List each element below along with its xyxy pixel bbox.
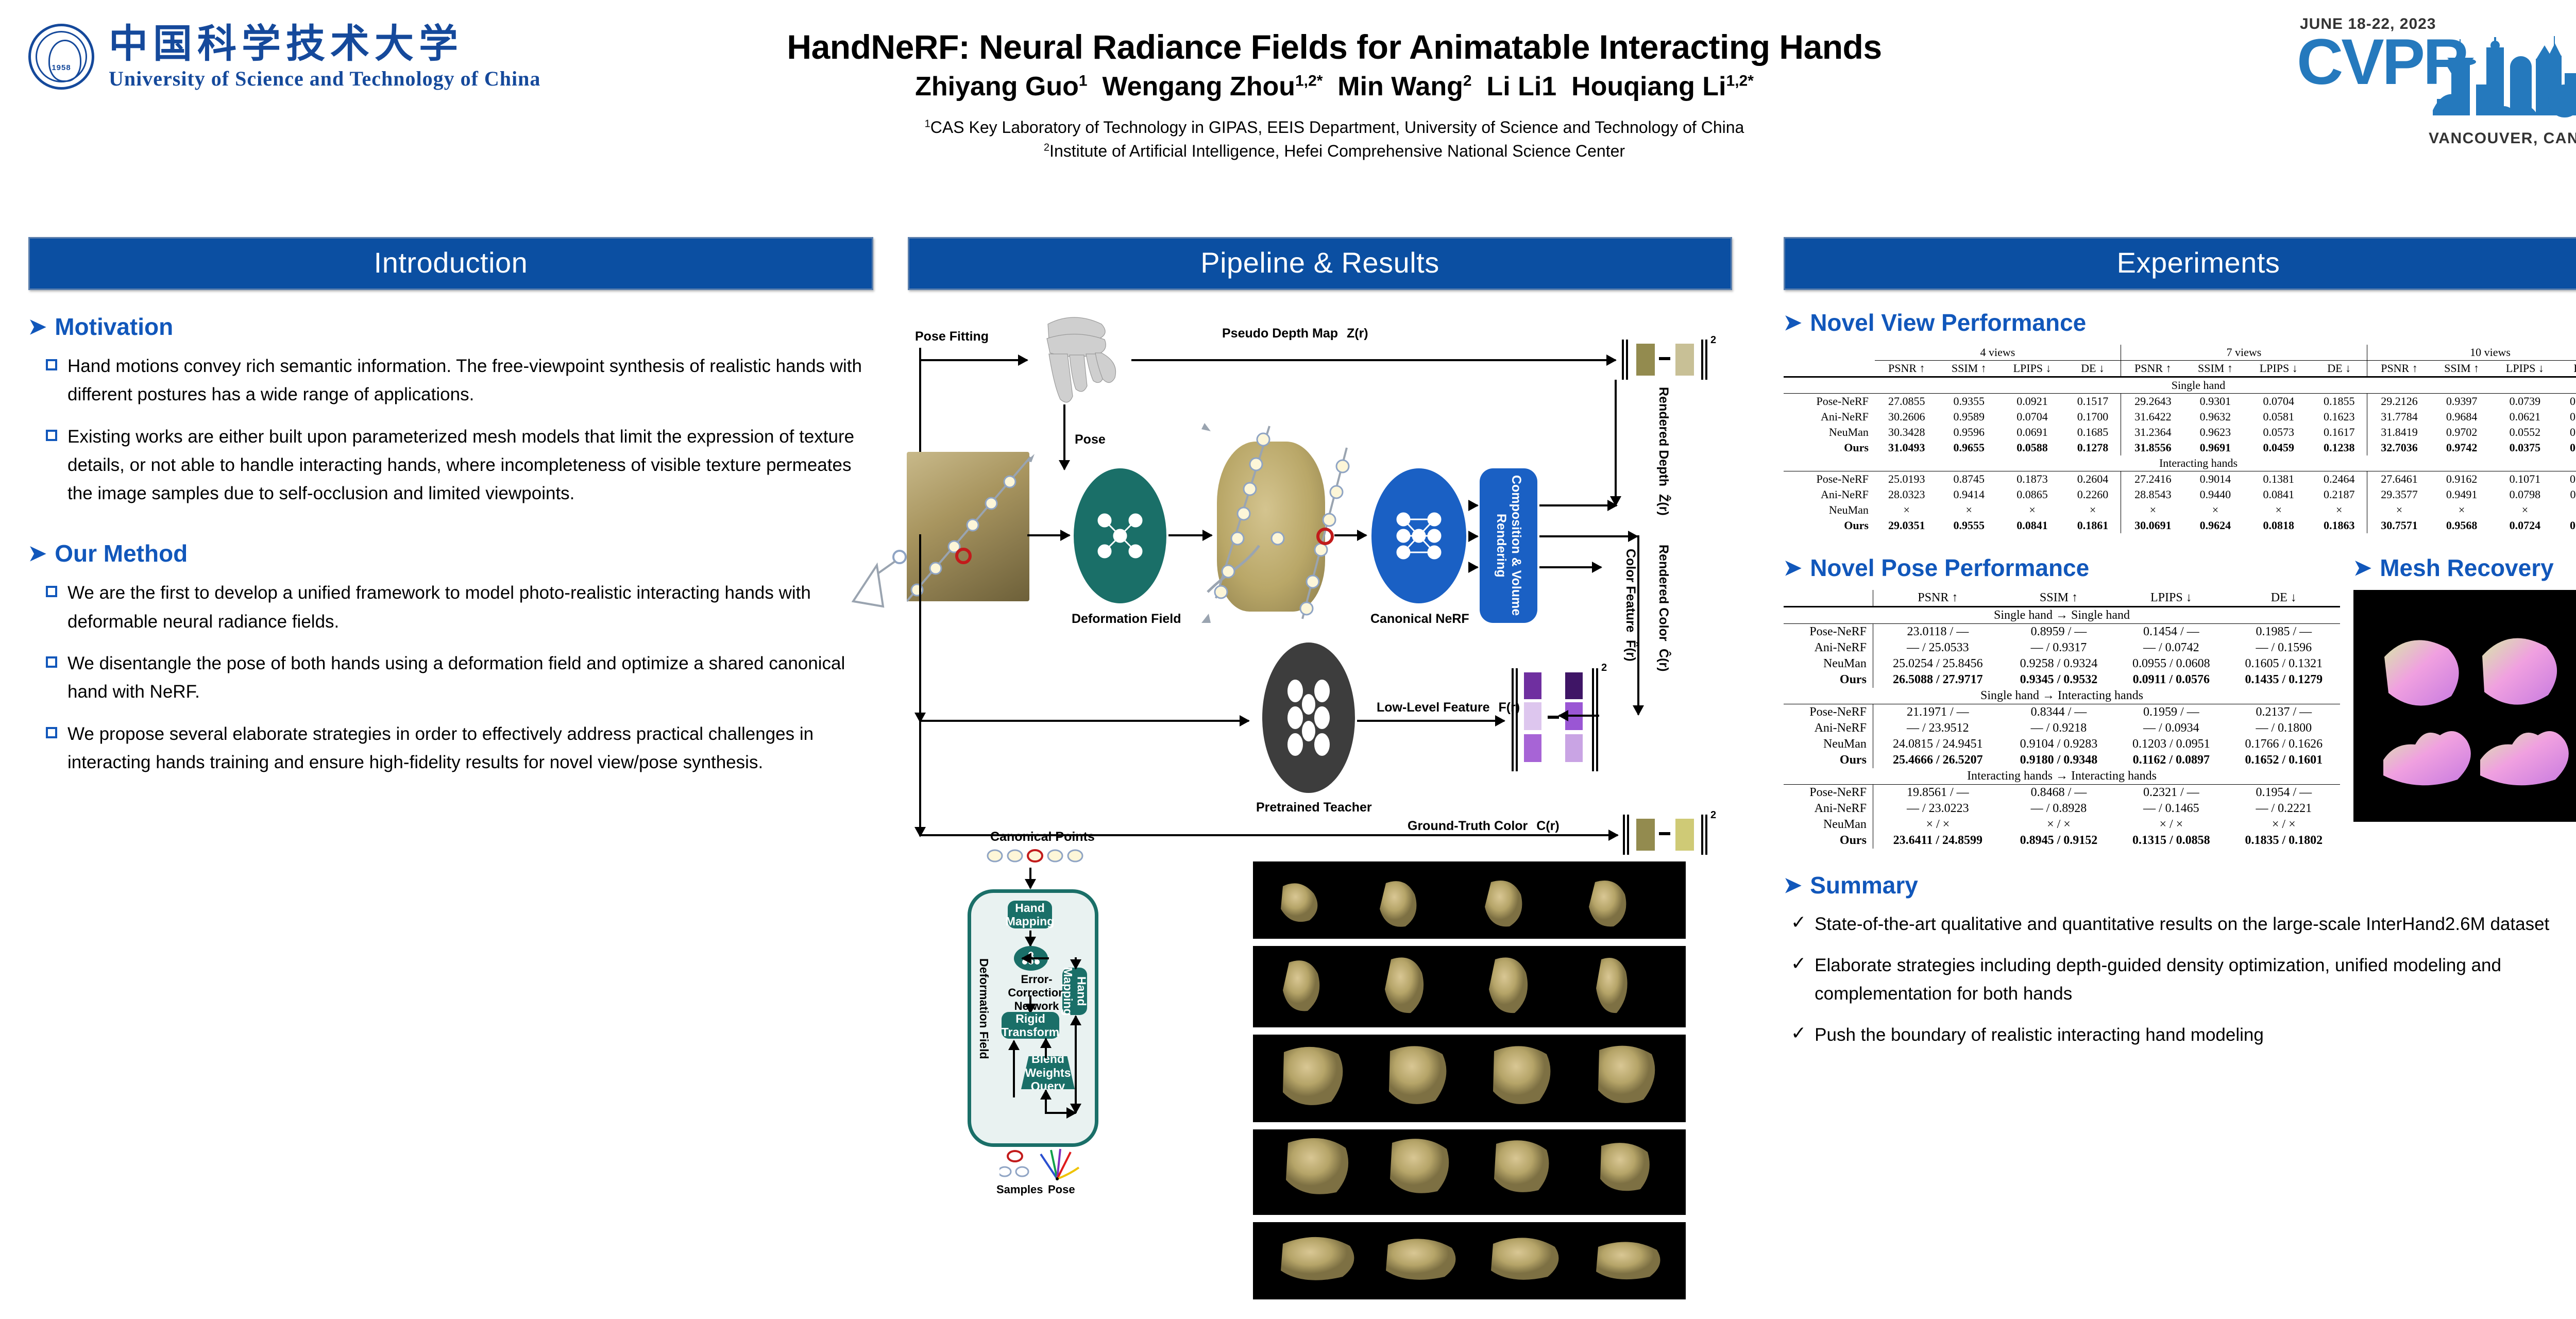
arrow-nerf-to-comp-3 bbox=[1469, 566, 1478, 568]
table-cell: 0.9491 bbox=[2431, 487, 2492, 502]
arrow-blend-to-rigid bbox=[1045, 1039, 1047, 1058]
row-label: NeuMan bbox=[1784, 502, 1875, 518]
affiliation-2: 2Institute of Artificial Intelligence, H… bbox=[608, 139, 2061, 163]
row-label: Pose-NeRF bbox=[1784, 471, 1875, 487]
table-cell: 0.2137 / — bbox=[2228, 704, 2340, 721]
line-rendered-depth-out bbox=[1539, 504, 1617, 506]
table-cell: 0.2321 / — bbox=[2115, 785, 2227, 801]
table-cell: 31.0493 bbox=[1875, 440, 1939, 455]
table-cell: 0.9742 bbox=[2431, 440, 2492, 455]
table-cell: 29.2643 bbox=[2121, 394, 2184, 410]
table-cell: 0.2118 bbox=[2558, 487, 2576, 502]
table-row: Ani-NeRF— / 23.0223— / 0.8928— / 0.1465—… bbox=[1784, 801, 2340, 817]
vancouver-skyline-icon bbox=[2433, 33, 2576, 127]
table-cell: 0.2464 bbox=[2311, 471, 2367, 487]
table-cell: 0.0818 bbox=[2246, 518, 2311, 533]
poster-header: 1958 中国科学技术大学 University of Science and … bbox=[0, 0, 2576, 222]
chevron-right-icon: ➤ bbox=[28, 316, 46, 337]
feature-swatch-b3 bbox=[1565, 734, 1583, 762]
mesh-hand-renders bbox=[2353, 590, 2576, 822]
table-cell: 0.1517 bbox=[2065, 394, 2121, 410]
table-cell: 0.0865 bbox=[1999, 487, 2065, 502]
connector-pose-up bbox=[1075, 1040, 1077, 1113]
table-section-header: Single hand → Interacting hands bbox=[1784, 688, 2340, 704]
table-cell: 0.1278 bbox=[2065, 440, 2121, 455]
list-item: ✓ State-of-the-art qualitative and quant… bbox=[1791, 910, 2576, 938]
table-cell: 0.9414 bbox=[1939, 487, 1999, 502]
square-bullet-icon bbox=[46, 359, 57, 370]
summary-list: ✓ State-of-the-art qualitative and quant… bbox=[1784, 910, 2576, 1049]
subheading-mesh-recovery: ➤ Mesh Recovery bbox=[2353, 554, 2576, 582]
table-cell: 0.1381 bbox=[2246, 471, 2311, 487]
novel-pose-container: ➤ Novel Pose Performance PSNR ↑SSIM ↑LPI… bbox=[1784, 549, 2340, 849]
table-cell: — / 0.0934 bbox=[2115, 720, 2227, 736]
norm-bar-left-feat bbox=[1512, 668, 1514, 771]
table-cell: 0.1623 bbox=[2311, 409, 2367, 425]
norm-bar-right-depth-2 bbox=[1705, 340, 1707, 380]
row-label: Pose-NeRF bbox=[1784, 785, 1873, 801]
list-item: We propose several elaborate strategies … bbox=[46, 720, 873, 777]
table-row: NeuMan24.0815 / 24.94510.9104 / 0.92830.… bbox=[1784, 736, 2340, 752]
table-row: Ours29.03510.95550.08410.186130.06910.96… bbox=[1784, 518, 2576, 533]
table-cell: 0.9632 bbox=[2185, 409, 2246, 425]
table-row: NeuMan25.0254 / 25.84560.9258 / 0.93240.… bbox=[1784, 656, 2340, 672]
mlp-network-icon bbox=[1386, 503, 1452, 569]
canonical-nerf-node bbox=[1371, 468, 1466, 603]
table-cell: 0.9301 bbox=[2185, 394, 2246, 410]
table-cell: — / 0.9218 bbox=[2003, 720, 2115, 736]
norm-bar-right-depth bbox=[1701, 340, 1703, 380]
chevron-right-icon: ➤ bbox=[1784, 874, 1802, 896]
arrow-mapping-to-ecn bbox=[1022, 957, 1049, 959]
table-cell: 25.4666 / 26.5207 bbox=[1873, 752, 2002, 768]
column-header: DE ↓ bbox=[2065, 361, 2121, 377]
table-cell: 0.9440 bbox=[2185, 487, 2246, 502]
table-cell: 0.1605 / 0.1321 bbox=[2228, 656, 2340, 672]
table-cell: 27.0855 bbox=[1875, 394, 1939, 410]
cvpr-logo: JUNE 18-22, 2023 CVPR bbox=[2297, 13, 2576, 158]
table-row: Pose-NeRF19.8561 / —0.8468 / —0.2321 / —… bbox=[1784, 785, 2340, 801]
canonical-points-icons bbox=[986, 847, 1094, 865]
table-cell: 0.0955 / 0.0608 bbox=[2115, 656, 2227, 672]
table-cell: 0.9397 bbox=[2431, 394, 2492, 410]
table-cell: × bbox=[2492, 502, 2557, 518]
table-cell: 0.1210 bbox=[2558, 440, 2576, 455]
table-row: Pose-NeRF27.08550.93550.09210.151729.264… bbox=[1784, 394, 2576, 410]
arrow-ecn-to-mapping bbox=[1029, 931, 1031, 946]
table-cell: × / × bbox=[2003, 817, 2115, 833]
university-name-chinese: 中国科学技术大学 bbox=[109, 23, 540, 64]
column-header: SSIM ↑ bbox=[2185, 361, 2246, 377]
column-header: LPIPS ↓ bbox=[1999, 361, 2065, 377]
chevron-right-icon: ➤ bbox=[1784, 557, 1802, 579]
table-row: Ani-NeRF— / 25.0533— / 0.9317— / 0.0742—… bbox=[1784, 640, 2340, 656]
label-pose-input: Pose bbox=[1048, 1183, 1075, 1196]
row-label: NeuMan bbox=[1784, 656, 1873, 672]
column-header: DE ↓ bbox=[2228, 590, 2340, 607]
table-cell: 0.1863 bbox=[2311, 518, 2367, 533]
column-introduction: Introduction ➤ Motivation Hand motions c… bbox=[28, 237, 873, 790]
table-cell: 31.8419 bbox=[2367, 425, 2431, 440]
minus-icon bbox=[1659, 832, 1670, 835]
table-cell: × bbox=[1939, 502, 1999, 518]
hand-mapping-top-block: Hand Mapping bbox=[1008, 901, 1052, 928]
table-cell: × bbox=[2311, 502, 2367, 518]
row-label: Ours bbox=[1784, 440, 1875, 455]
row-label: Pose-NeRF bbox=[1784, 394, 1875, 410]
deformation-field-node bbox=[1074, 468, 1166, 603]
check-icon: ✓ bbox=[1791, 910, 1806, 938]
list-item: Hand motions convey rich semantic inform… bbox=[46, 352, 873, 409]
table-cell: 0.9162 bbox=[2431, 471, 2492, 487]
table-metric-header-row: PSNR ↑SSIM ↑LPIPS ↓DE ↓ bbox=[1784, 590, 2340, 607]
column-header: SSIM ↑ bbox=[2003, 590, 2115, 607]
table-cell: 0.1507 bbox=[2558, 425, 2576, 440]
table-cell: 0.1238 bbox=[2311, 440, 2367, 455]
label-low-level-feature: Low-Level Feature F(r) bbox=[1377, 700, 1520, 715]
group-header: 4 views bbox=[1875, 345, 2121, 361]
table-cell: 0.9589 bbox=[1939, 409, 1999, 425]
row-label: Ani-NeRF bbox=[1784, 640, 1873, 656]
result-strip-row bbox=[1253, 946, 1686, 1027]
table-cell: 0.1861 bbox=[2065, 518, 2121, 533]
our-method-bullets: We are the first to develop a unified fr… bbox=[28, 579, 873, 776]
list-item: ✓ Elaborate strategies including depth-g… bbox=[1791, 952, 2576, 1008]
connector-mapping-up bbox=[1075, 957, 1077, 969]
result-strip-row bbox=[1253, 1035, 1686, 1122]
table-cell: 26.5088 / 27.9717 bbox=[1873, 672, 2002, 688]
affiliation-1: 1CAS Key Laboratory of Technology in GIP… bbox=[608, 115, 2061, 139]
row-label: Pose-NeRF bbox=[1784, 624, 1873, 640]
column-header: DE ↓ bbox=[2311, 361, 2367, 377]
list-item: We disentangle the pose of both hands us… bbox=[46, 649, 873, 706]
table-novel-view-performance: 4 views7 views10 viewsPSNR ↑SSIM ↑LPIPS … bbox=[1784, 345, 2576, 533]
table-cell: 0.0459 bbox=[2246, 440, 2311, 455]
table-cell: — / 0.1800 bbox=[2228, 720, 2340, 736]
table-cell: 0.8468 / — bbox=[2003, 785, 2115, 801]
table-cell: 28.8543 bbox=[2121, 487, 2184, 502]
table-cell: 0.1766 / 0.1626 bbox=[2228, 736, 2340, 752]
row-label: Ours bbox=[1784, 752, 1873, 768]
table-cell: 0.9596 bbox=[1939, 425, 1999, 440]
row-label: Ours bbox=[1784, 672, 1873, 688]
table-row: Pose-NeRF23.0118 / —0.8959 / —0.1454 / —… bbox=[1784, 624, 2340, 640]
arrow-to-canonical-points bbox=[1029, 868, 1031, 888]
norm-bar-right-color-2 bbox=[1705, 815, 1707, 855]
table-cell: 23.6411 / 24.8599 bbox=[1873, 833, 2002, 849]
result-strip-row bbox=[1253, 861, 1686, 939]
feature-swatch-a3 bbox=[1524, 734, 1541, 762]
column-header: DE ↓ bbox=[2558, 361, 2576, 377]
line-rendered-color-out bbox=[1539, 535, 1637, 537]
table-cell: 30.2606 bbox=[1875, 409, 1939, 425]
table-cell: 28.0323 bbox=[1875, 487, 1939, 502]
table-cell: × bbox=[1999, 502, 2065, 518]
row-label: Pose-NeRF bbox=[1784, 704, 1873, 721]
table-cell: 0.0691 bbox=[1999, 425, 2065, 440]
table-cell: 0.8344 / — bbox=[2003, 704, 2115, 721]
column-header: PSNR ↑ bbox=[1873, 590, 2002, 607]
column-header: SSIM ↑ bbox=[2431, 361, 2492, 377]
section-band-introduction: Introduction bbox=[28, 237, 873, 290]
table-cell: 0.1985 / — bbox=[2228, 624, 2340, 640]
square-bullet-icon bbox=[46, 430, 57, 441]
label-canonical-nerf: Canonical NeRF bbox=[1370, 612, 1469, 627]
table-cell: 0.1454 / — bbox=[2115, 624, 2227, 640]
table-cell: × bbox=[2367, 502, 2431, 518]
label-deformation-field-panel: Deformation Field bbox=[977, 958, 991, 1059]
mlp-network-icon bbox=[1089, 505, 1151, 567]
table-cell: 0.1071 bbox=[2492, 471, 2557, 487]
table-cell: 0.1162 / 0.0897 bbox=[2115, 752, 2227, 768]
column-header: LPIPS ↓ bbox=[2115, 590, 2227, 607]
row-label: Ours bbox=[1784, 518, 1875, 533]
subheading-summary: ➤ Summary bbox=[1784, 871, 2576, 899]
table-cell: 27.2416 bbox=[2121, 471, 2184, 487]
table-cell: 30.7571 bbox=[2367, 518, 2431, 533]
table-cell: 0.9624 bbox=[2185, 518, 2246, 533]
table-cell: × bbox=[1875, 502, 1939, 518]
chevron-right-icon: ➤ bbox=[28, 543, 46, 564]
table-cell: 0.1855 bbox=[2311, 394, 2367, 410]
arrow-into-nerf bbox=[1334, 534, 1366, 536]
table-cell: 25.0193 bbox=[1875, 471, 1939, 487]
motivation-bullets: Hand motions convey rich semantic inform… bbox=[28, 352, 873, 508]
table-cell: 0.0581 bbox=[2246, 409, 2311, 425]
table-cell: 29.2126 bbox=[2367, 394, 2431, 410]
norm-bar-right-feat-2 bbox=[1596, 668, 1598, 771]
depth-swatch-gt bbox=[1636, 344, 1655, 376]
table-row: Ours25.4666 / 26.52070.9180 / 0.93480.11… bbox=[1784, 752, 2340, 768]
exp-2-feature: 2 bbox=[1601, 662, 1607, 674]
chevron-right-icon: ➤ bbox=[1784, 312, 1802, 333]
label-pose-fitting: Pose Fitting bbox=[915, 329, 989, 344]
composition-volume-rendering-block: Composition & Volume Rendering bbox=[1480, 468, 1537, 623]
university-name-block: 中国科学技术大学 University of Science and Techn… bbox=[109, 23, 540, 91]
row-label: NeuMan bbox=[1784, 817, 1873, 833]
table-cell: 0.9568 bbox=[2431, 518, 2492, 533]
table-cell: 0.1910 bbox=[2558, 394, 2576, 410]
table-cell: 30.3428 bbox=[1875, 425, 1939, 440]
pretrained-teacher-node bbox=[1262, 642, 1355, 793]
affiliations: 1CAS Key Laboratory of Technology in GIP… bbox=[608, 115, 2061, 163]
table-cell: — / 0.1596 bbox=[2228, 640, 2340, 656]
subheading-our-method: ➤ Our Method bbox=[28, 539, 873, 567]
table-cell: 0.9655 bbox=[1939, 440, 1999, 455]
rigid-transform-block: Rigid Transform bbox=[1002, 1012, 1059, 1039]
table-row: Pose-NeRF25.01930.87450.18730.260427.241… bbox=[1784, 471, 2576, 487]
arrow-pose-to-blend bbox=[1045, 1090, 1047, 1113]
minus-icon bbox=[1548, 716, 1559, 719]
label-rendered-depth: Rendered Depth Ẑ(r) bbox=[1656, 387, 1671, 516]
table-row: Pose-NeRF21.1971 / —0.8344 / —0.1959 / —… bbox=[1784, 704, 2340, 721]
table-cell: 0.0375 bbox=[2492, 440, 2557, 455]
blend-weights-query-block: Blend Weights Query bbox=[1021, 1056, 1075, 1089]
table-row: Ani-NeRF30.26060.95890.07040.170031.6422… bbox=[1784, 409, 2576, 425]
subheading-novel-view: ➤ Novel View Performance bbox=[1784, 309, 2576, 336]
page-title: HandNeRF: Neural Radiance Fields for Ani… bbox=[608, 28, 2061, 66]
row-label: Ani-NeRF bbox=[1784, 409, 1875, 425]
group-header: 10 views bbox=[2367, 345, 2576, 361]
table-cell: × bbox=[2185, 502, 2246, 518]
list-item: We are the first to develop a unified fr… bbox=[46, 579, 873, 636]
table-cell: 0.0621 bbox=[2492, 409, 2557, 425]
row-label: NeuMan bbox=[1784, 736, 1873, 752]
result-strip-row bbox=[1253, 1222, 1686, 1299]
sample-ray-canonical-icon bbox=[1192, 417, 1362, 628]
row-label: Ani-NeRF bbox=[1784, 487, 1875, 502]
table-cell: 31.8556 bbox=[2121, 440, 2184, 455]
check-icon: ✓ bbox=[1791, 1021, 1806, 1049]
table-row: NeuMan×××××××××××× bbox=[1784, 502, 2576, 518]
arrow-samples-to-rigid bbox=[1013, 1041, 1015, 1097]
label-color-feature: Color Feature F̂(r) bbox=[1623, 549, 1638, 662]
table-cell: 29.0351 bbox=[1875, 518, 1939, 533]
author-list: Zhiyang Guo1 Wengang Zhou1,2* Min Wang2 … bbox=[608, 71, 2061, 102]
arrow-into-deformation bbox=[1027, 534, 1070, 536]
table-row: Ours26.5088 / 27.97170.9345 / 0.95320.09… bbox=[1784, 672, 2340, 688]
table-section-header: Interacting hands → Interacting hands bbox=[1784, 768, 2340, 785]
list-item: ✓ Push the boundary of realistic interac… bbox=[1791, 1021, 2576, 1049]
table-cell: × bbox=[2246, 502, 2311, 518]
feature-swatch-b1 bbox=[1565, 672, 1583, 699]
column-pipeline: Pipeline & Results Pose Fitting bbox=[908, 237, 1732, 828]
table-cell: 0.1315 / 0.0858 bbox=[2115, 833, 2227, 849]
table-cell: 25.0254 / 25.8456 bbox=[1873, 656, 2002, 672]
table-cell: — / 0.0742 bbox=[2115, 640, 2227, 656]
table-cell: 0.9555 bbox=[1939, 518, 1999, 533]
table-section-header: Single hand bbox=[1784, 377, 2576, 394]
arrow-teacher-to-loss bbox=[1357, 720, 1504, 722]
deformation-field-detail: Canonical Points Deformation Field Hand … bbox=[959, 835, 1145, 1206]
table-cell: 27.6461 bbox=[2367, 471, 2431, 487]
label-ground-truth-color: Ground-Truth Color C(r) bbox=[1408, 819, 1560, 834]
norm-bar-left-depth-2 bbox=[1626, 340, 1628, 380]
table-group-header-row: 4 views7 views10 views bbox=[1784, 345, 2576, 361]
subheading-motivation: ➤ Motivation bbox=[28, 313, 873, 341]
table-cell: 23.0118 / — bbox=[1873, 624, 2002, 640]
table-cell: 0.0573 bbox=[2246, 425, 2311, 440]
table-cell: 0.8945 / 0.9152 bbox=[2003, 833, 2115, 849]
column-header: LPIPS ↓ bbox=[2492, 361, 2557, 377]
table-cell: — / 0.9317 bbox=[2003, 640, 2115, 656]
subheading-novel-pose: ➤ Novel Pose Performance bbox=[1784, 554, 2340, 582]
group-header: 7 views bbox=[2121, 345, 2367, 361]
row-label: NeuMan bbox=[1784, 425, 1875, 440]
table-cell: 0.0552 bbox=[2492, 425, 2557, 440]
line-color-feature-out bbox=[1539, 566, 1601, 568]
table-cell: 0.0704 bbox=[2246, 394, 2311, 410]
poster-root: 1958 中国科学技术大学 University of Science and … bbox=[0, 0, 2576, 1319]
table-cell: — / 23.9512 bbox=[1873, 720, 2002, 736]
samples-icon bbox=[999, 1150, 1030, 1181]
arrow-rigid-to-ecn bbox=[1029, 995, 1031, 1013]
table-cell: — / 25.0533 bbox=[1873, 640, 2002, 656]
label-pseudo-depth-map: Pseudo Depth Map Z(r) bbox=[1222, 326, 1368, 341]
table-cell: — / 0.8928 bbox=[2003, 801, 2115, 817]
table-cell: 0.9691 bbox=[2185, 440, 2246, 455]
mano-mesh-hand-icon bbox=[1025, 307, 1128, 404]
usc-seal-icon: 1958 bbox=[28, 24, 94, 90]
camera-frustum-icon bbox=[846, 545, 923, 617]
table-cell: 21.1971 / — bbox=[1873, 704, 2002, 721]
table-metric-header-row: PSNR ↑SSIM ↑LPIPS ↓DE ↓PSNR ↑SSIM ↑LPIPS… bbox=[1784, 361, 2576, 377]
arrow-nerf-to-comp-1 bbox=[1469, 504, 1478, 506]
table-cell: 19.8561 / — bbox=[1873, 785, 2002, 801]
feature-swatch-a1 bbox=[1524, 672, 1541, 699]
column-header: LPIPS ↓ bbox=[2246, 361, 2311, 377]
table-cell: 0.1835 / 0.1802 bbox=[2228, 833, 2340, 849]
table-cell: × bbox=[2558, 502, 2576, 518]
table-cell: 31.7784 bbox=[2367, 409, 2431, 425]
norm-bar-left-depth bbox=[1622, 340, 1624, 380]
table-cell: 0.9104 / 0.9283 bbox=[2003, 736, 2115, 752]
university-logo: 1958 中国科学技术大学 University of Science and … bbox=[28, 23, 540, 91]
column-experiments: Experiments ➤ Novel View Performance 4 v… bbox=[1784, 237, 2576, 1062]
table-cell: × bbox=[2121, 502, 2184, 518]
table-cell: 0.0911 / 0.0576 bbox=[2115, 672, 2227, 688]
table-row: NeuMan30.34280.95960.06910.168531.23640.… bbox=[1784, 425, 2576, 440]
table-cell: 0.8959 / — bbox=[2003, 624, 2115, 640]
table-cell: × bbox=[2065, 502, 2121, 518]
table-cell: 0.0841 bbox=[2246, 487, 2311, 502]
mesh-recovery-container: ➤ Mesh Recovery bbox=[2353, 549, 2576, 849]
connector-colorfeat-down bbox=[1637, 535, 1639, 715]
table-cell: 31.2364 bbox=[2121, 425, 2184, 440]
title-block: HandNeRF: Neural Radiance Fields for Ani… bbox=[608, 28, 2061, 163]
table-cell: 0.0704 bbox=[1999, 409, 2065, 425]
row-label: Ours bbox=[1784, 833, 1873, 849]
column-header: PSNR ↑ bbox=[1875, 361, 1939, 377]
table-cell: — / 0.1465 bbox=[2115, 801, 2227, 817]
table-row: Ours23.6411 / 24.85990.8945 / 0.91520.13… bbox=[1784, 833, 2340, 849]
table-cell: 24.0815 / 24.9451 bbox=[1873, 736, 2002, 752]
table-row: Ours31.04930.96550.05880.127831.85560.96… bbox=[1784, 440, 2576, 455]
table-cell: 0.0588 bbox=[1999, 440, 2065, 455]
table-cell: 0.9702 bbox=[2431, 425, 2492, 440]
table-cell: 0.0921 bbox=[1999, 394, 2065, 410]
arrow-feature-back bbox=[1559, 715, 1599, 717]
table-cell: 0.1652 / 0.1601 bbox=[2228, 752, 2340, 768]
square-bullet-icon bbox=[46, 656, 57, 668]
pose-skeleton-icon bbox=[1035, 1147, 1081, 1181]
table-row: NeuMan× / ×× / ×× / ×× / × bbox=[1784, 817, 2340, 833]
table-novel-pose-performance: PSNR ↑SSIM ↑LPIPS ↓DE ↓Single hand → Sin… bbox=[1784, 590, 2340, 849]
pipeline-diagram: Pose Fitting Pseudo Depth bbox=[908, 302, 1732, 828]
label-rendered-color: Rendered Color Ĉ(r) bbox=[1656, 545, 1671, 672]
table-cell: 0.9345 / 0.9532 bbox=[2003, 672, 2115, 688]
label-canonical-points: Canonical Points bbox=[990, 830, 1095, 844]
connector-input-down bbox=[919, 534, 921, 722]
table-cell: 0.2312 bbox=[2558, 471, 2576, 487]
table-cell: × / × bbox=[2115, 817, 2227, 833]
table-cell: 32.7036 bbox=[2367, 440, 2431, 455]
square-bullet-icon bbox=[46, 586, 57, 597]
section-band-experiments: Experiments bbox=[1784, 237, 2576, 290]
table-cell: 0.0798 bbox=[2492, 487, 2557, 502]
table-cell: 0.1435 / 0.1279 bbox=[2228, 672, 2340, 688]
norm-bar-right-feat bbox=[1592, 668, 1594, 771]
norm-bar-right-color bbox=[1701, 815, 1703, 855]
feature-swatch-a2 bbox=[1524, 702, 1541, 730]
table-cell: 0.9258 / 0.9324 bbox=[2003, 656, 2115, 672]
arrow-nerf-to-comp-2 bbox=[1469, 535, 1478, 537]
usc-seal-year: 1958 bbox=[31, 63, 92, 72]
table-cell: 0.9684 bbox=[2431, 409, 2492, 425]
connector-gt-down bbox=[919, 720, 921, 836]
square-bullet-icon bbox=[46, 727, 57, 738]
table-cell: — / 23.0223 bbox=[1873, 801, 2002, 817]
